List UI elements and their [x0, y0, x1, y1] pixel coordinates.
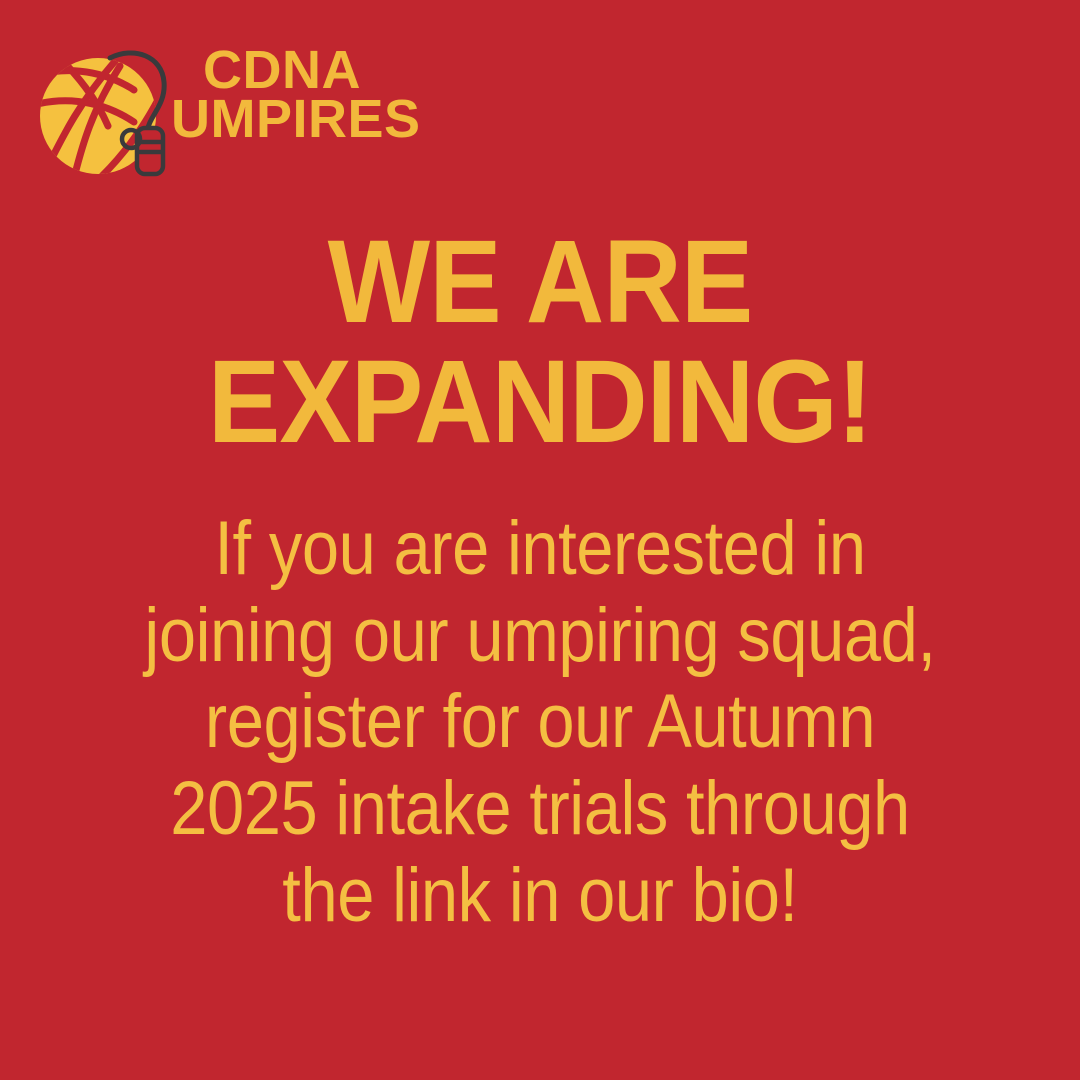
- brand-wordmark: CDNA UMPIRES: [171, 46, 461, 143]
- body-line: 2025 intake trials through: [65, 766, 1015, 853]
- body-line: joining our umpiring squad,: [65, 593, 1015, 680]
- wordmark-line-cdna: CDNA: [203, 46, 461, 95]
- body-copy: If you are interested in joining our ump…: [0, 506, 1080, 939]
- body-line: the link in our bio!: [65, 853, 1015, 940]
- headline-line-2: EXPANDING!: [43, 342, 1037, 462]
- netball-with-whistle-logo-icon: [38, 42, 188, 178]
- headline: WE ARE EXPANDING!: [0, 222, 1080, 463]
- wordmark-line-umpires: UMPIRES: [171, 95, 461, 144]
- promo-poster: CDNA UMPIRES WE ARE EXPANDING! If you ar…: [0, 0, 1080, 1080]
- headline-line-1: WE ARE: [43, 222, 1037, 342]
- body-line: If you are interested in: [65, 506, 1015, 593]
- body-line: register for our Autumn: [65, 679, 1015, 766]
- brand-logo-lockup: CDNA UMPIRES: [38, 28, 458, 178]
